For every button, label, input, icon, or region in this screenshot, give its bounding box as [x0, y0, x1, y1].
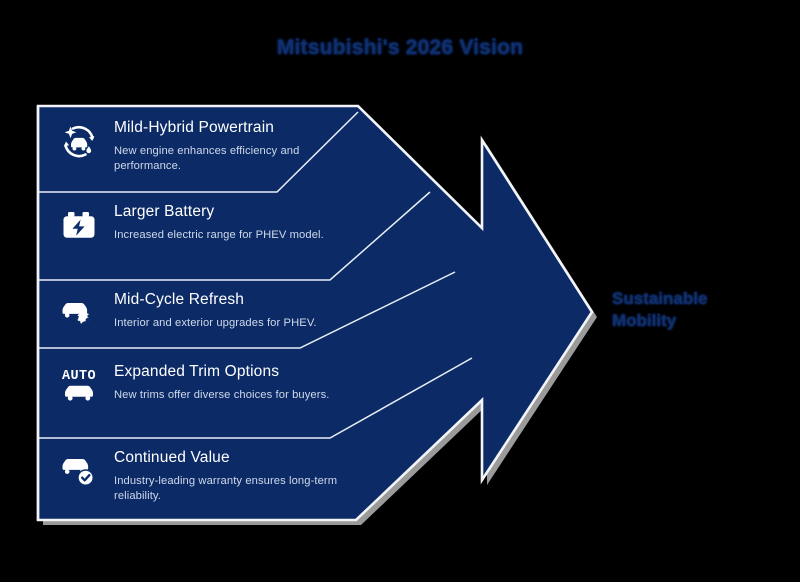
feature-title: Expanded Trim Options [114, 363, 330, 381]
feature-card[interactable]: Continued Value Industry-leading warrant… [56, 448, 346, 503]
feature-card[interactable]: Mild-Hybrid Powertrain New engine enhanc… [56, 118, 346, 173]
outcome-line-1: Sustainable [612, 288, 792, 310]
feature-description: Industry-leading warranty ensures long-t… [114, 474, 346, 503]
infographic-canvas: Mitsubishi's 2026 Vision [0, 0, 800, 582]
hybrid-cycle-car-icon [56, 118, 102, 164]
outcome-line-2: Mobility [612, 310, 792, 332]
feature-card[interactable]: Mid-Cycle Refresh Interior and exterior … [56, 290, 317, 336]
feature-card[interactable]: AUTO Expanded Trim Options New trims off… [56, 362, 330, 408]
feature-description: Increased electric range for PHEV model. [114, 228, 324, 243]
svg-text:AUTO: AUTO [62, 369, 96, 384]
outcome-label: Sustainable Mobility [612, 288, 792, 332]
car-check-icon [56, 448, 102, 494]
feature-title: Continued Value [114, 449, 346, 467]
car-gear-icon [56, 290, 102, 336]
feature-description: Interior and exterior upgrades for PHEV. [114, 316, 317, 331]
feature-description: New trims offer diverse choices for buye… [114, 388, 330, 403]
battery-bolt-icon [56, 202, 102, 248]
feature-title: Mid-Cycle Refresh [114, 291, 317, 309]
feature-card[interactable]: Larger Battery Increased electric range … [56, 202, 324, 248]
auto-trim-car-icon: AUTO [56, 362, 102, 408]
feature-title: Larger Battery [114, 203, 324, 221]
feature-description: New engine enhances efficiency and perfo… [114, 144, 346, 173]
feature-title: Mild-Hybrid Powertrain [114, 119, 346, 137]
